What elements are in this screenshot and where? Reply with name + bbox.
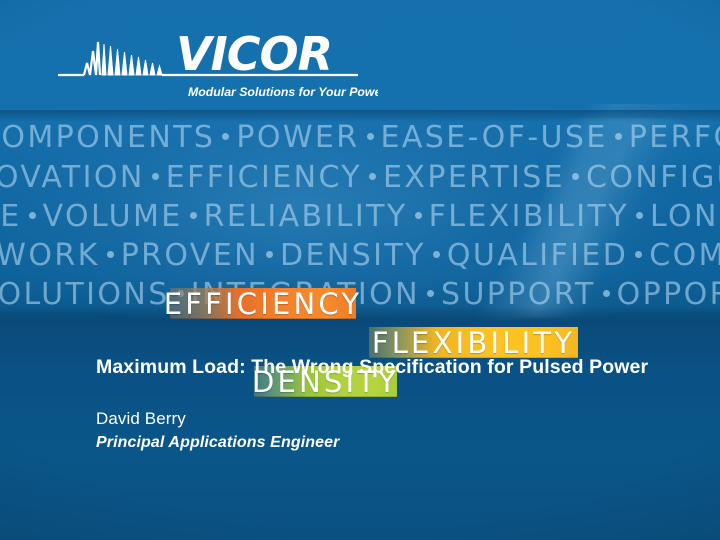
keyword-performance: PERFORMAN xyxy=(629,118,720,158)
keyword-reliability: RELIABILITY xyxy=(204,197,408,237)
bullet-dot-icon xyxy=(603,290,610,297)
keyword-row-3: MEVOLUMERELIABILITYFLEXIBILITYLONGEVI xyxy=(0,197,692,237)
bullet-dot-icon xyxy=(636,212,643,219)
keyword-longevity: LONGEVI xyxy=(650,197,720,237)
bullet-dot-icon xyxy=(152,173,159,180)
keyword-volume: VOLUME xyxy=(43,197,183,237)
bullet-dot-icon xyxy=(190,212,197,219)
keyword-configurability: CONFIGURA xyxy=(586,158,720,198)
presenter-name: David Berry xyxy=(96,409,696,429)
keyword-teamwork: MWORK xyxy=(0,236,100,276)
keyword-band: COMPONENTSPOWEREASE-OF-USEPERFORMAN NOVA… xyxy=(0,118,720,316)
bullet-dot-icon xyxy=(415,212,422,219)
keyword-time: ME xyxy=(0,197,22,237)
keyword-efficiency-base: EFFICIENCY xyxy=(166,158,362,198)
keyword-flexibility-base: FLEXIBILITY xyxy=(429,197,629,237)
bullet-dot-icon xyxy=(266,251,273,258)
vicor-logo-svg: VICOR Modular Solutions for Your Power S… xyxy=(58,30,378,112)
highlight-chip-efficiency: EFFICIENCY xyxy=(170,288,356,319)
keyword-row-4: MWORKPROVENDENSITYQUALIFIEDCOMPE xyxy=(0,236,688,276)
presenter-role: Principal Applications Engineer xyxy=(96,434,696,452)
presentation-title: Maximum Load: The Wrong Specification fo… xyxy=(96,356,696,379)
bullet-dot-icon xyxy=(635,251,642,258)
vicor-logo: VICOR Modular Solutions for Your Power S… xyxy=(58,30,378,112)
keyword-ease-of-use: EASE-OF-USE xyxy=(381,118,608,158)
keyword-row-2: NOVATIONEFFICIENCYEXPERTISECONFIGURA xyxy=(0,158,690,198)
bullet-dot-icon xyxy=(107,251,114,258)
keyword-support: SUPPORT xyxy=(441,275,596,315)
logo-tagline-text: Modular Solutions for Your Power System xyxy=(188,85,378,99)
bullet-dot-icon xyxy=(222,133,229,140)
keyword-density-base: DENSITY xyxy=(280,236,426,276)
keyword-solutions: SOLUTIONS xyxy=(0,275,170,315)
presentation-title-slide: VICOR Modular Solutions for Your Power S… xyxy=(0,0,720,540)
keyword-expertise: EXPERTISE xyxy=(383,158,565,198)
bullet-dot-icon xyxy=(572,173,579,180)
bullet-dot-icon xyxy=(29,212,36,219)
keyword-opportunity: OPPORTUNI xyxy=(617,275,720,315)
bullet-dot-icon xyxy=(369,173,376,180)
bullet-dot-icon xyxy=(615,133,622,140)
keyword-power: POWER xyxy=(236,118,359,158)
logo-wordmark-text: VICOR xyxy=(176,30,332,81)
highlight-chip-flexibility: FLEXIBILITY xyxy=(369,327,578,358)
keyword-qualified: QUALIFIED xyxy=(447,236,628,276)
keyword-innovation: NOVATION xyxy=(0,158,145,198)
bullet-dot-icon xyxy=(427,290,434,297)
keyword-components: COMPONENTS xyxy=(0,118,215,158)
keyword-row-1: COMPONENTSPOWEREASE-OF-USEPERFORMAN xyxy=(0,118,698,158)
bullet-dot-icon xyxy=(367,133,374,140)
bullet-dot-icon xyxy=(433,251,440,258)
title-block: Maximum Load: The Wrong Specification fo… xyxy=(96,356,696,452)
keyword-proven: PROVEN xyxy=(121,236,259,276)
keyword-competence: COMPE xyxy=(649,236,720,276)
